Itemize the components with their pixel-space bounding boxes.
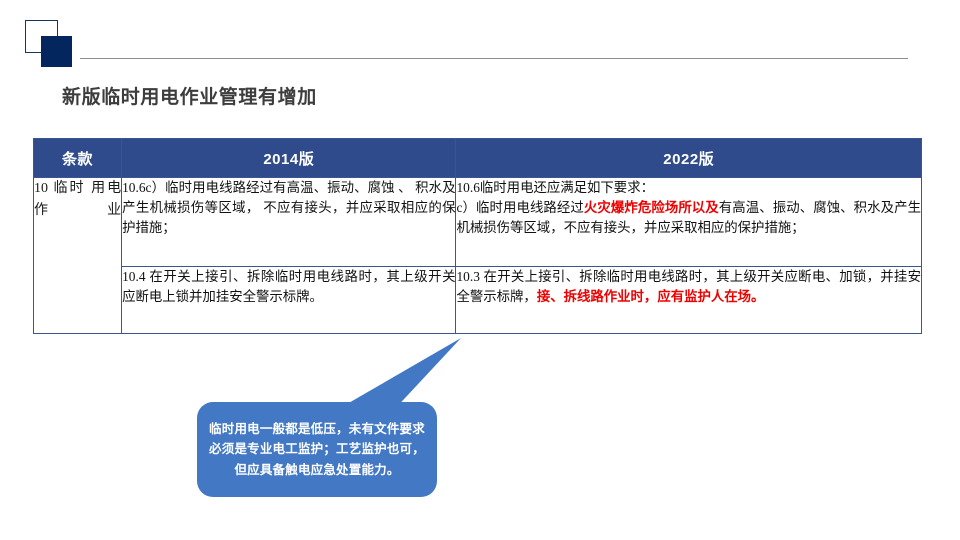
cell-text: 10.4 在开关上接引、拆除临时用电线路时，其上级开关应断电上锁并加挂安全警示标… [122, 269, 455, 304]
column-header-2014: 2014版 [122, 139, 456, 178]
cell-2022-row1: 10.6临时用电还应满足如下要求： c）临时用电线路经过火灾爆炸危险场所以及有高… [456, 178, 922, 267]
table-header-row: 条款 2014版 2022版 [34, 139, 922, 178]
column-header-clause: 条款 [34, 139, 122, 178]
comparison-table: 条款 2014版 2022版 10 临时 用电作业 10.6c）临时用电线路经过… [33, 138, 922, 334]
table-row: 10.4 在开关上接引、拆除临时用电线路时，其上级开关应断电上锁并加挂安全警示标… [34, 267, 922, 334]
cell-text: 10.6c）临时用电线路经过有高温、振动、腐蚀 、 积水及产生机械损伤等区域， … [122, 180, 455, 235]
header-divider [80, 58, 908, 59]
column-header-2022: 2022版 [456, 139, 922, 178]
slide-canvas: 新版临时用电作业管理有增加 条款 2014版 2022版 10 临时 用电作业 … [0, 0, 960, 540]
highlight-text: 火灾爆炸危险场所以及 [584, 200, 719, 215]
cell-text: 10.6临时用电还应满足如下要求： [456, 180, 654, 195]
page-title: 新版临时用电作业管理有增加 [62, 82, 317, 109]
callout-text: 临时用电一般都是低压，未有文件要求必须是专业电工监护；工艺监护也可，但应具备触电… [197, 419, 437, 480]
cell-2014-row1: 10.6c）临时用电线路经过有高温、振动、腐蚀 、 积水及产生机械损伤等区域， … [122, 178, 456, 267]
table-row: 10 临时 用电作业 10.6c）临时用电线路经过有高温、振动、腐蚀 、 积水及… [34, 178, 922, 267]
cell-text: c）临时用电线路经过 [456, 200, 583, 215]
square-solid-icon [41, 36, 72, 67]
highlight-text: 接、拆线路作业时，应有监护人在场。 [537, 289, 765, 304]
cell-2022-row2: 10.3 在开关上接引、拆除临时用电线路时，其上级开关应断电、加锁，并挂安全警示… [456, 267, 922, 334]
callout-bubble: 临时用电一般都是低压，未有文件要求必须是专业电工监护；工艺监护也可，但应具备触电… [197, 402, 437, 497]
clause-cell: 10 临时 用电作业 [34, 178, 122, 334]
cell-2014-row2: 10.4 在开关上接引、拆除临时用电线路时，其上级开关应断电上锁并加挂安全警示标… [122, 267, 456, 334]
